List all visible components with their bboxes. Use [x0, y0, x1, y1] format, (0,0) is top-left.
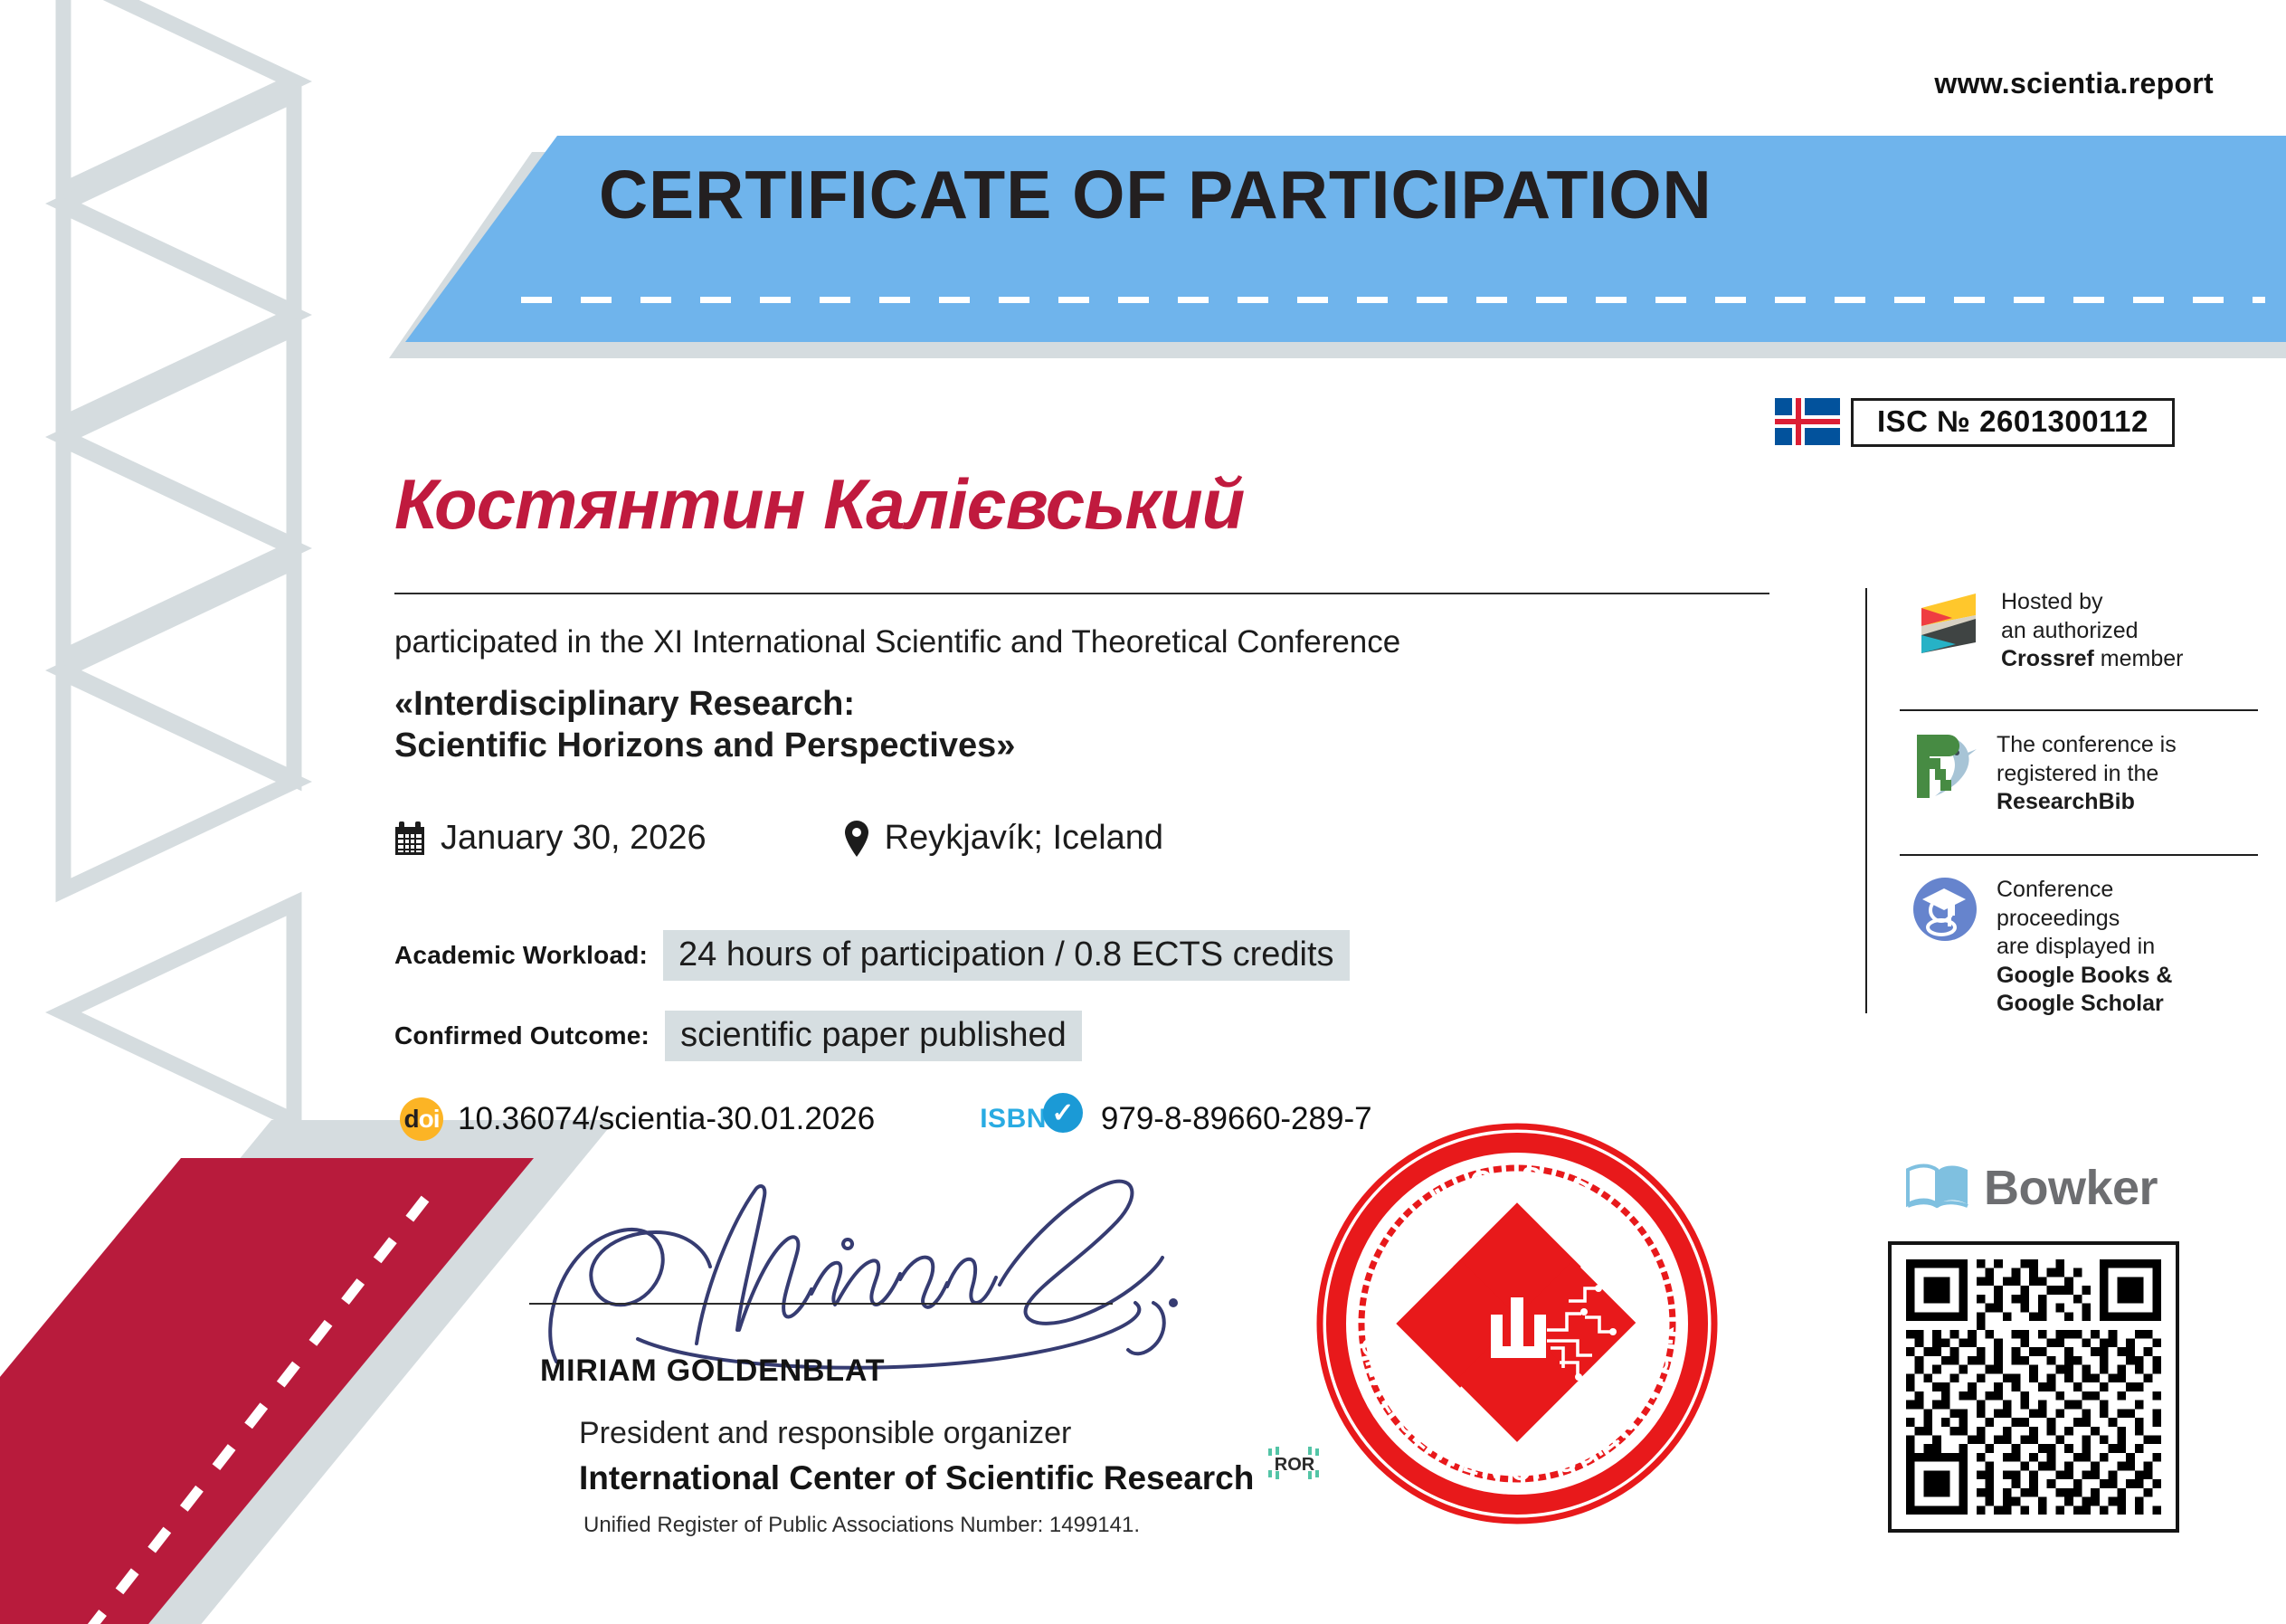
open-book-icon [1904, 1161, 1971, 1216]
researchbib-line-2: registered in the [1997, 761, 2158, 786]
badge-crossref: Hosted by an authorized Crossref member [1916, 588, 2183, 674]
academic-workload-row: Academic Workload: 24 hours of participa… [394, 930, 1350, 981]
conference-title-line-2: Scientific Horizons and Perspectives» [394, 725, 1015, 766]
signatory-organization-label: International Center of Scientific Resea… [579, 1459, 1254, 1497]
signatory-role: President and responsible organizer [579, 1416, 1071, 1451]
gs-line-4-bold: Google Books & [1997, 963, 2172, 988]
confirmed-outcome-value: scientific paper published [665, 1011, 1082, 1061]
event-date: January 30, 2026 [394, 819, 707, 858]
badge-researchbib-text: The conference is registered in the Rese… [1997, 731, 2177, 817]
badge-crossref-text: Hosted by an authorized Crossref member [2001, 588, 2183, 674]
isc-number: ISC № 2601300112 [1851, 398, 2175, 447]
sidebar-separator-1 [1900, 709, 2258, 711]
isbn-label: ISBN [980, 1104, 1047, 1135]
researchbib-line-1: The conference is [1997, 732, 2177, 757]
sidebar-divider [1865, 588, 1867, 1013]
sidebar-separator-2 [1900, 854, 2258, 856]
register-number: Unified Register of Public Associations … [583, 1513, 1140, 1538]
qr-code [1888, 1241, 2179, 1533]
participation-line: participated in the XI International Sci… [394, 624, 1400, 660]
doi-value: 10.36074/scientia-30.01.2026 [458, 1101, 875, 1137]
iceland-flag-icon [1775, 398, 1840, 445]
gs-line-5-bold: Google Scholar [1997, 991, 2164, 1016]
banner-dashed-line [521, 297, 2265, 303]
bowker-name: Bowker [1984, 1160, 2158, 1216]
crossref-line-3-rest: member [2094, 646, 2184, 671]
doi-icon: doi [400, 1097, 443, 1141]
event-date-label: January 30, 2026 [441, 819, 707, 858]
gs-line-3: are displayed in [1997, 934, 2155, 959]
confirmed-outcome-row: Confirmed Outcome: scientific paper publ… [394, 1011, 1082, 1061]
conference-title: «Interdisciplinary Research: Scientific … [394, 683, 1015, 767]
icsr-seal: I C S R INTERNATIONAL CENTER OF SCIENTIF… [1314, 1120, 1721, 1527]
crossref-line-3-bold: Crossref [2001, 646, 2094, 671]
certificate-banner: CERTIFICATE OF PARTICIPATION [405, 136, 2286, 342]
banner-title: CERTIFICATE OF PARTICIPATION [599, 156, 1712, 233]
certificate-page: CERTIFICATE OF PARTICIPATION www.scienti… [0, 0, 2286, 1624]
badge-google-scholar: Conference proceedings are displayed in … [1911, 876, 2172, 1019]
zigzag-decoration [0, 0, 362, 1158]
signature-rule [529, 1303, 1113, 1305]
calendar-icon [394, 821, 425, 856]
badge-google-scholar-text: Conference proceedings are displayed in … [1997, 876, 2172, 1019]
identifiers-row: doi 10.36074/scientia-30.01.2026 ISBN ✓ … [400, 1097, 1372, 1141]
gs-line-2: proceedings [1997, 906, 2120, 931]
isc-badge: ISC № 2601300112 [1775, 398, 2175, 447]
recipient-name: Костянтин Калієвський [394, 463, 1244, 546]
crossref-logo-icon [1916, 588, 1983, 661]
crossref-line-2: an authorized [2001, 618, 2139, 643]
svg-text:ROR: ROR [1275, 1455, 1315, 1475]
event-location-label: Reykjavík; Iceland [885, 819, 1163, 858]
badge-researchbib: The conference is registered in the Rese… [1911, 731, 2177, 817]
site-url: www.scientia.report [1934, 67, 2214, 100]
handwritten-signature [529, 1167, 1217, 1380]
recipient-underline [394, 593, 1769, 594]
researchbib-line-3-bold: ResearchBib [1997, 789, 2135, 814]
crossref-line-1: Hosted by [2001, 589, 2103, 614]
signatory-organization: International Center of Scientific Resea… [579, 1459, 1323, 1497]
event-location: Reykjavík; Iceland [844, 819, 1163, 858]
academic-workload-label: Academic Workload: [394, 941, 648, 970]
bowker-logo: Bowker [1904, 1160, 2158, 1216]
location-pin-icon [844, 821, 869, 857]
signatory-name: MIRIAM GOLDENBLAT [540, 1353, 885, 1389]
confirmed-outcome-label: Confirmed Outcome: [394, 1021, 650, 1050]
conference-title-line-1: «Interdisciplinary Research: [394, 683, 1015, 725]
researchbib-logo-icon [1911, 731, 1978, 808]
event-meta: January 30, 2026 Reykjavík; Iceland [394, 819, 1163, 858]
check-badge-icon: ✓ [1043, 1093, 1083, 1133]
google-scholar-logo-icon [1911, 876, 1978, 947]
academic-workload-value: 24 hours of participation / 0.8 ECTS cre… [663, 930, 1349, 981]
gs-line-1: Conference [1997, 877, 2113, 902]
